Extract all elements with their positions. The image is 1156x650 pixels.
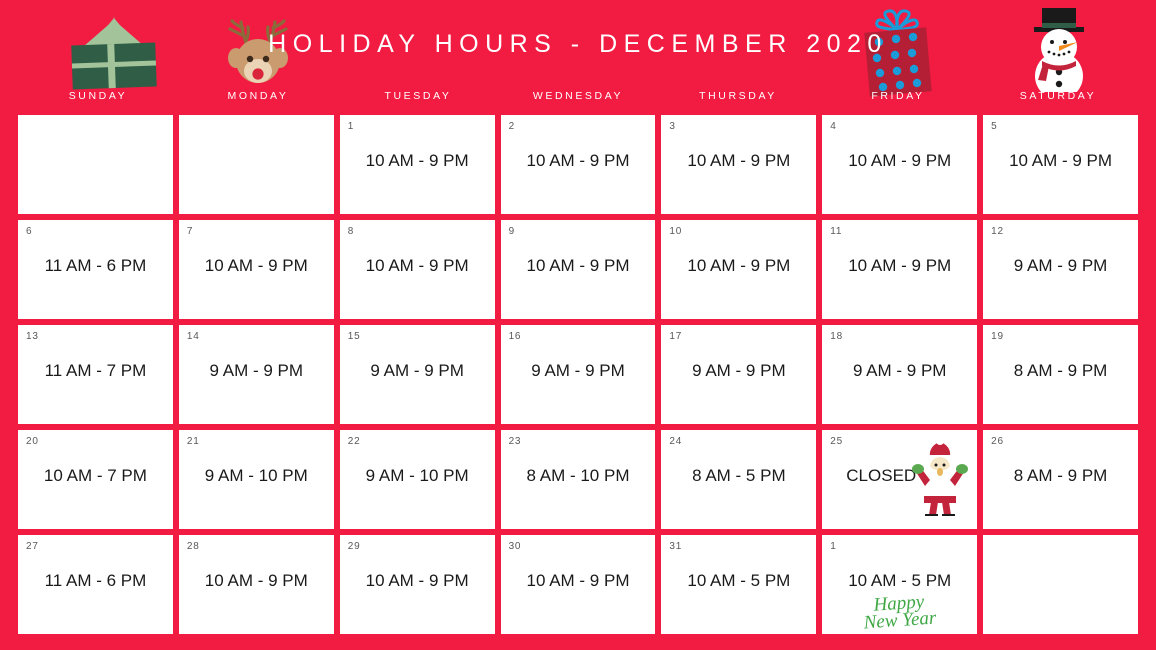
calendar-cell-4[interactable]: 410 AM - 9 PM [822, 115, 977, 214]
calendar-cell-27[interactable]: 2711 AM - 6 PM [18, 535, 173, 634]
hours-text: 10 AM - 9 PM [661, 151, 816, 171]
date-number: 25 [830, 436, 843, 447]
hours-text: 8 AM - 10 PM [501, 466, 656, 486]
date-number: 1 [830, 541, 836, 552]
calendar-cell-9[interactable]: 910 AM - 9 PM [501, 220, 656, 319]
date-number: 9 [509, 226, 515, 237]
hours-text: 10 AM - 9 PM [822, 151, 977, 171]
holiday-hours-calendar: HOLIDAY HOURS - DECEMBER 2020 SUNDAY MON… [0, 0, 1156, 650]
calendar-cell-3[interactable]: 310 AM - 9 PM [661, 115, 816, 214]
calendar-cell-14[interactable]: 149 AM - 9 PM [179, 325, 334, 424]
hours-text: 9 AM - 9 PM [983, 256, 1138, 276]
calendar-cell-21[interactable]: 219 AM - 10 PM [179, 430, 334, 529]
date-number: 15 [348, 331, 361, 342]
page-title: HOLIDAY HOURS - DECEMBER 2020 [0, 30, 1156, 59]
calendar-cell-empty [179, 115, 334, 214]
hours-text: 10 AM - 5 PM [822, 571, 977, 591]
date-number: 20 [26, 436, 39, 447]
date-number: 7 [187, 226, 193, 237]
calendar-cell-31[interactable]: 3110 AM - 5 PM [661, 535, 816, 634]
date-number: 26 [991, 436, 1004, 447]
day-name-tuesday: TUESDAY [338, 90, 498, 102]
calendar-cell-17[interactable]: 179 AM - 9 PM [661, 325, 816, 424]
hours-text: 11 AM - 6 PM [18, 571, 173, 591]
calendar-cell-5[interactable]: 510 AM - 9 PM [983, 115, 1138, 214]
calendar-cell-6[interactable]: 611 AM - 6 PM [18, 220, 173, 319]
calendar-cell-19[interactable]: 198 AM - 9 PM [983, 325, 1138, 424]
hours-text: 10 AM - 9 PM [179, 256, 334, 276]
hours-text: 10 AM - 7 PM [18, 466, 173, 486]
hours-text: 9 AM - 9 PM [340, 361, 495, 381]
date-number: 19 [991, 331, 1004, 342]
calendar-cell-8[interactable]: 810 AM - 9 PM [340, 220, 495, 319]
day-name-row: SUNDAY MONDAY TUESDAY WEDNESDAY THURSDAY… [18, 90, 1138, 102]
day-name-friday: FRIDAY [818, 90, 978, 102]
hours-text: 9 AM - 10 PM [340, 466, 495, 486]
hours-text: 8 AM - 9 PM [983, 361, 1138, 381]
hours-text: 8 AM - 9 PM [983, 466, 1138, 486]
date-number: 29 [348, 541, 361, 552]
hours-text: 10 AM - 9 PM [340, 256, 495, 276]
date-number: 6 [26, 226, 32, 237]
hours-text: 9 AM - 9 PM [179, 361, 334, 381]
date-number: 16 [509, 331, 522, 342]
date-number: 12 [991, 226, 1004, 237]
calendar-cell-12[interactable]: 129 AM - 9 PM [983, 220, 1138, 319]
hours-text: 10 AM - 9 PM [661, 256, 816, 276]
hours-text: 10 AM - 9 PM [340, 151, 495, 171]
calendar-cell-16[interactable]: 169 AM - 9 PM [501, 325, 656, 424]
date-number: 28 [187, 541, 200, 552]
day-name-wednesday: WEDNESDAY [498, 90, 658, 102]
hours-text: 10 AM - 9 PM [501, 151, 656, 171]
calendar-cell-2[interactable]: 210 AM - 9 PM [501, 115, 656, 214]
calendar-cell-23[interactable]: 238 AM - 10 PM [501, 430, 656, 529]
day-name-monday: MONDAY [178, 90, 338, 102]
calendar-cell-1[interactable]: 110 AM - 5 PMHappyNew Year [822, 535, 977, 634]
date-number: 18 [830, 331, 843, 342]
hours-text: 10 AM - 5 PM [661, 571, 816, 591]
calendar-cell-empty [983, 535, 1138, 634]
day-name-saturday: SATURDAY [978, 90, 1138, 102]
calendar-cell-15[interactable]: 159 AM - 9 PM [340, 325, 495, 424]
hours-text: 9 AM - 10 PM [179, 466, 334, 486]
date-number: 8 [348, 226, 354, 237]
calendar-cell-24[interactable]: 248 AM - 5 PM [661, 430, 816, 529]
hours-text: 9 AM - 9 PM [822, 361, 977, 381]
date-number: 30 [509, 541, 522, 552]
date-number: 1 [348, 121, 354, 132]
calendar-cell-1[interactable]: 110 AM - 9 PM [340, 115, 495, 214]
date-number: 21 [187, 436, 200, 447]
hours-text: 10 AM - 9 PM [340, 571, 495, 591]
calendar-cell-10[interactable]: 1010 AM - 9 PM [661, 220, 816, 319]
date-number: 23 [509, 436, 522, 447]
date-number: 24 [669, 436, 682, 447]
date-number: 17 [669, 331, 682, 342]
date-number: 22 [348, 436, 361, 447]
calendar-cell-13[interactable]: 1311 AM - 7 PM [18, 325, 173, 424]
date-number: 5 [991, 121, 997, 132]
calendar-cell-20[interactable]: 2010 AM - 7 PM [18, 430, 173, 529]
calendar-grid: 110 AM - 9 PM210 AM - 9 PM310 AM - 9 PM4… [18, 115, 1138, 634]
calendar-cell-18[interactable]: 189 AM - 9 PM [822, 325, 977, 424]
hours-text: 10 AM - 9 PM [179, 571, 334, 591]
hours-text: 10 AM - 9 PM [983, 151, 1138, 171]
hours-text: 11 AM - 7 PM [18, 361, 173, 381]
hours-text: 10 AM - 9 PM [822, 256, 977, 276]
santa-icon [911, 436, 969, 521]
calendar-cell-22[interactable]: 229 AM - 10 PM [340, 430, 495, 529]
calendar-cell-empty [18, 115, 173, 214]
date-number: 3 [669, 121, 675, 132]
hours-text: 8 AM - 5 PM [661, 466, 816, 486]
hours-text: 9 AM - 9 PM [501, 361, 656, 381]
calendar-cell-7[interactable]: 710 AM - 9 PM [179, 220, 334, 319]
day-name-sunday: SUNDAY [18, 90, 178, 102]
date-number: 11 [830, 226, 842, 237]
happy-new-year-note: HappyNew Year [822, 590, 977, 634]
day-name-thursday: THURSDAY [658, 90, 818, 102]
calendar-cell-26[interactable]: 268 AM - 9 PM [983, 430, 1138, 529]
date-number: 10 [669, 226, 682, 237]
calendar-header: HOLIDAY HOURS - DECEMBER 2020 SUNDAY MON… [0, 0, 1156, 112]
hours-text: 10 AM - 9 PM [501, 571, 656, 591]
date-number: 2 [509, 121, 515, 132]
date-number: 13 [26, 331, 39, 342]
hours-text: 11 AM - 6 PM [18, 256, 173, 276]
date-number: 4 [830, 121, 836, 132]
date-number: 14 [187, 331, 200, 342]
date-number: 27 [26, 541, 39, 552]
date-number: 31 [669, 541, 682, 552]
hours-text: 9 AM - 9 PM [661, 361, 816, 381]
calendar-cell-28[interactable]: 2810 AM - 9 PM [179, 535, 334, 634]
calendar-cell-29[interactable]: 2910 AM - 9 PM [340, 535, 495, 634]
calendar-cell-25[interactable]: 25CLOSED [822, 430, 977, 529]
calendar-cell-30[interactable]: 3010 AM - 9 PM [501, 535, 656, 634]
hours-text: 10 AM - 9 PM [501, 256, 656, 276]
calendar-cell-11[interactable]: 1110 AM - 9 PM [822, 220, 977, 319]
